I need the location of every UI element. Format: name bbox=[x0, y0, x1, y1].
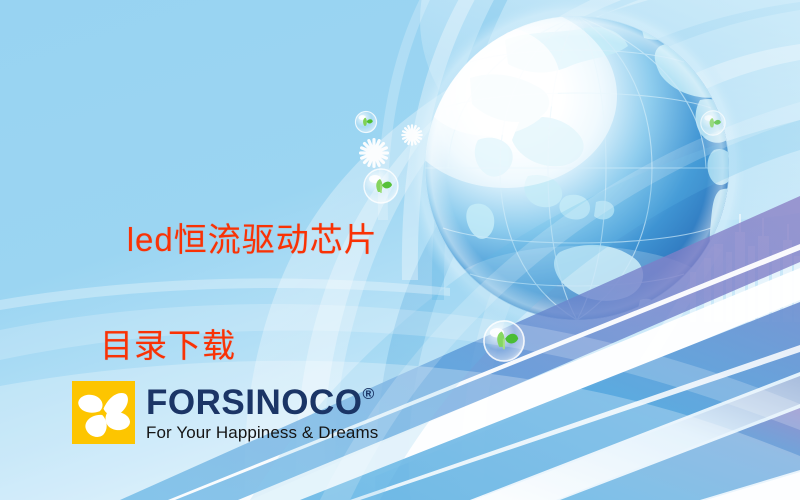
brand-name: FORSINOCO ® bbox=[146, 385, 378, 420]
brand-tagline: For Your Happiness & Dreams bbox=[146, 424, 378, 441]
company-logo: FORSINOCO ® For Your Happiness & Dreams bbox=[72, 381, 378, 444]
slide-canvas: led恒流驱动芯片 目录下载 FORSINOCO ® For Your Happ… bbox=[0, 0, 800, 500]
headline-line-1: led恒流驱动芯片 bbox=[127, 221, 378, 258]
logo-wordmark: FORSINOCO ® For Your Happiness & Dreams bbox=[146, 385, 378, 441]
registered-trademark-icon: ® bbox=[362, 387, 374, 403]
four-petal-flower-icon bbox=[72, 381, 135, 444]
headline-line-2: 目录下载 bbox=[86, 320, 378, 371]
brand-name-text: FORSINOCO bbox=[146, 385, 362, 420]
